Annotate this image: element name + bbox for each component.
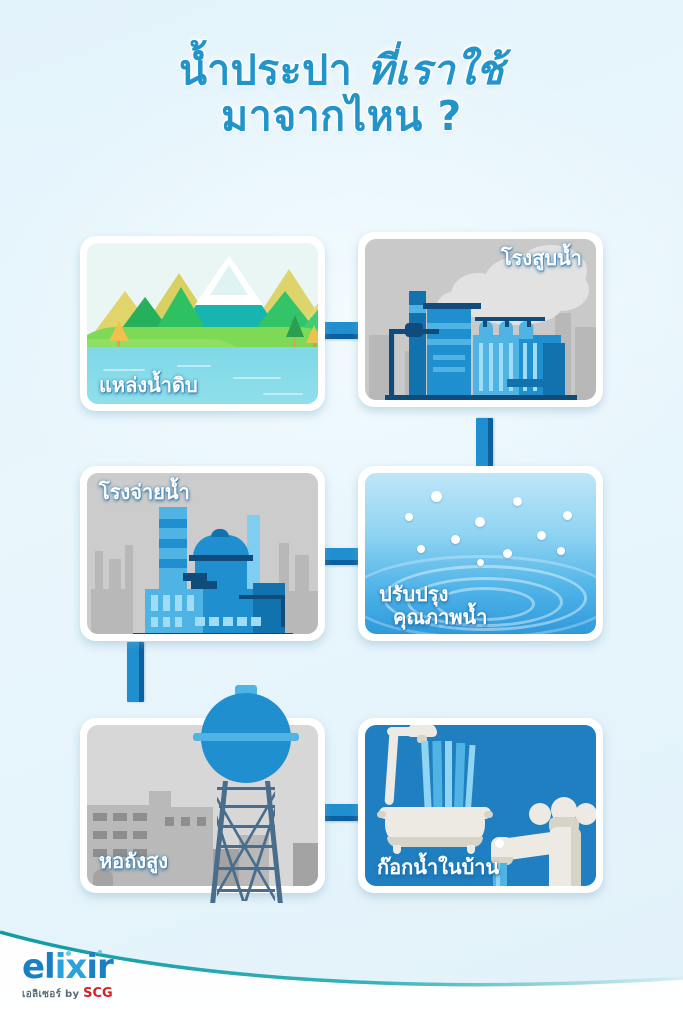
logo-tagline-brand: SCG xyxy=(83,986,113,1001)
card-scene-water-tower: หอถังสูง xyxy=(87,725,318,886)
logo-tagline: เอลิเซอร์ by SCG xyxy=(22,986,113,1002)
water-drop-4 xyxy=(405,513,413,521)
lake-ripple-2 xyxy=(177,365,211,367)
tree-left-icon xyxy=(109,321,129,341)
water-tank-band xyxy=(193,733,299,741)
tower-crossbar xyxy=(423,303,481,309)
plant-strip-1 xyxy=(195,617,205,626)
plant-strip-5 xyxy=(251,617,261,626)
city-win-r1c3 xyxy=(133,813,147,821)
elixir-logo[interactable]: elixir เอลิเซอร์ by SCG xyxy=(22,950,113,1002)
logo-dot-2 xyxy=(98,950,102,954)
tower-windows-left-2 xyxy=(433,367,465,372)
shower-stream-3 xyxy=(445,741,452,817)
city-win-b3-3 xyxy=(197,817,206,826)
tree-right2-icon xyxy=(306,325,318,343)
plant-window-2 xyxy=(163,595,170,611)
factory-block-right xyxy=(543,343,565,397)
tower-lattice xyxy=(217,783,275,901)
logo-word-part1: el xyxy=(22,947,55,987)
water-drop-6 xyxy=(537,531,546,540)
faucet-column-shade xyxy=(571,827,581,886)
card-scene-water-quality: ปรับปรุง คุณภาพน้ำ xyxy=(365,473,596,634)
thin-chimney-right xyxy=(247,515,260,591)
card-label-water-quality-line2: คุณภาพน้ำ xyxy=(393,606,487,628)
plant-pipe-right xyxy=(239,595,285,599)
tower-windows-left xyxy=(433,355,465,360)
bathtub-foot-right xyxy=(467,845,475,854)
water-drop-3 xyxy=(563,511,572,520)
water-drop-5 xyxy=(475,517,485,527)
card-scene-distribution-plant: โรงจ่ายน้ำ xyxy=(87,473,318,634)
city-win-r1c1 xyxy=(93,813,107,821)
silo-pipe-drop-3 xyxy=(527,317,531,327)
city-win-b3-2 xyxy=(181,817,190,826)
infographic-page: น้ำประปา ที่เราใช้ มาจากไหน ? xyxy=(0,0,683,1024)
water-drop-10 xyxy=(557,547,565,555)
water-drop-8 xyxy=(417,545,425,553)
card-scene-household-faucet: ก๊อกน้ำในบ้าน xyxy=(365,725,596,886)
tree-right-icon xyxy=(286,315,304,337)
title-line-1: น้ำประปา ที่เราใช้ xyxy=(0,48,683,94)
pipe-vertical xyxy=(389,329,394,397)
plant-pipe-right-down xyxy=(281,595,285,627)
water-drop-1 xyxy=(431,491,442,502)
card-raw-water-source[interactable]: แหล่งน้ำดิบ xyxy=(80,236,325,411)
plant-window-6 xyxy=(163,617,170,627)
page-title: น้ำประปา ที่เราใช้ มาจากไหน ? xyxy=(0,48,683,140)
card-label-water-quality: ปรับปรุง คุณภาพน้ำ xyxy=(379,583,487,628)
card-water-distribution-plant[interactable]: โรงจ่ายน้ำ xyxy=(80,466,325,641)
title-plain: น้ำประปา xyxy=(179,46,367,94)
faucet-highlight xyxy=(495,839,504,848)
plant-strip-3 xyxy=(223,617,233,626)
plant-window-7 xyxy=(175,617,182,627)
bathtub-handle-right xyxy=(484,811,493,818)
plant-window-3 xyxy=(175,595,182,611)
card-scene-pumping-station: โรงสูบน้ำ xyxy=(365,239,596,400)
ghost-block-left xyxy=(91,589,133,634)
city-win-r2c2 xyxy=(113,831,127,839)
city-building-6 xyxy=(293,843,318,886)
chimney-band-2 xyxy=(159,539,187,548)
logo-tagline-by: by xyxy=(65,989,79,1000)
card-water-quality-improvement[interactable]: ปรับปรุง คุณภาพน้ำ xyxy=(358,466,603,641)
plant-window-5 xyxy=(151,617,158,627)
logo-tagline-thai: เอลิเซอร์ xyxy=(22,989,61,1000)
water-drop-9 xyxy=(503,549,512,558)
plant-window-4 xyxy=(187,595,194,611)
step-2 xyxy=(191,581,217,589)
lake-ripple-1 xyxy=(103,369,145,371)
water-drop-2 xyxy=(513,497,522,506)
plant-strip-2 xyxy=(209,617,219,626)
factory-window-row-2 xyxy=(489,343,493,391)
factory-window-row-3 xyxy=(499,343,503,391)
card-pumping-station[interactable]: โรงสูบน้ำ xyxy=(358,232,603,407)
water-drop-7 xyxy=(451,535,460,544)
card-scene-mountains: แหล่งน้ำดิบ xyxy=(87,243,318,404)
card-label-elevated-water-tank: หอถังสูง xyxy=(99,850,168,872)
plant-ground xyxy=(385,395,577,400)
annex-roof xyxy=(507,379,563,387)
card-household-faucet[interactable]: ก๊อกน้ำในบ้าน xyxy=(358,718,603,893)
valve-knob xyxy=(405,323,423,337)
chimney-band-1 xyxy=(159,519,187,528)
factory-window-row-1 xyxy=(479,343,483,391)
step-1 xyxy=(183,573,207,581)
card-label-household-faucet: ก๊อกน้ำในบ้าน xyxy=(377,856,499,878)
city-win-r2c1 xyxy=(93,831,107,839)
footer: elixir เอลิเซอร์ by SCG xyxy=(0,916,683,1024)
card-label-distribution-plant: โรงจ่ายน้ำ xyxy=(99,481,190,503)
chimney-band-3 xyxy=(159,559,187,568)
card-elevated-water-tank[interactable]: หอถังสูง xyxy=(80,718,325,893)
city-win-r1c2 xyxy=(113,813,127,821)
silo-pipe-drop-1 xyxy=(483,317,487,327)
bathtub-handle-left xyxy=(377,811,386,818)
shower-arm-bend xyxy=(387,727,421,736)
main-tower-stripe-2 xyxy=(427,339,471,345)
lake-ripple-5 xyxy=(263,393,303,395)
shower-stream-2 xyxy=(432,741,442,817)
title-line-2: มาจากไหน ? xyxy=(0,94,683,140)
card-label-raw-water-source: แหล่งน้ำดิบ xyxy=(99,374,198,396)
lake-ripple-3 xyxy=(233,377,281,379)
title-italic: ที่เราใช้ xyxy=(367,46,504,94)
bathtub-foot-left xyxy=(393,845,401,854)
card-label-pumping-station: โรงสูบน้ำ xyxy=(501,247,582,269)
dome-cap xyxy=(211,529,229,537)
logo-dot-1 xyxy=(66,951,71,956)
plant-window-1 xyxy=(151,595,158,611)
city-win-b3-1 xyxy=(165,817,174,826)
connector-card3-to-card5 xyxy=(127,642,144,702)
plant-ground-line xyxy=(133,633,293,634)
city-win-r2c3 xyxy=(133,831,147,839)
silo-pipe-drop-2 xyxy=(505,317,509,327)
ghost-building-3 xyxy=(575,327,596,400)
plant-strip-4 xyxy=(237,617,247,626)
faucet-valve-left xyxy=(529,803,551,825)
card-label-water-quality-line1: ปรับปรุง xyxy=(379,583,487,605)
water-drop-11 xyxy=(477,559,484,566)
